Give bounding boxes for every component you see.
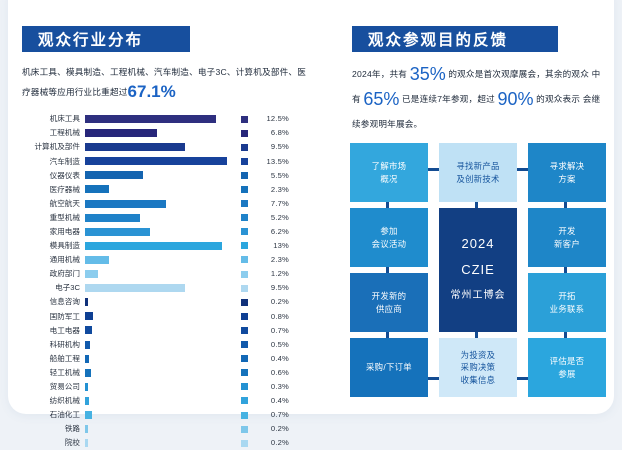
- purpose-cell-line: 寻找新产品: [456, 160, 499, 173]
- chart-row: 仪器仪表5.5%: [22, 168, 318, 182]
- purpose-cell-line: 开拓: [558, 290, 575, 303]
- intro-pct-revisit: 90%: [498, 89, 534, 109]
- chart-value-label: 5.2%: [255, 214, 289, 222]
- purpose-cell-line: 方案: [558, 173, 575, 186]
- chart-value-label: 12.5%: [255, 115, 289, 123]
- chart-row-label: 科研机构: [22, 341, 85, 349]
- chart-row-label: 贸易公司: [22, 383, 85, 391]
- chart-row-label: 家用电器: [22, 228, 85, 236]
- chart-row: 医疗器械2.3%: [22, 182, 318, 196]
- purpose-cell-line: 开发: [558, 225, 575, 238]
- intro-seg-5: 的观众表示: [536, 94, 580, 104]
- purpose-cell: 寻找新产品及创新技术: [439, 143, 517, 202]
- chart-row: 电子3C9.5%: [22, 281, 318, 295]
- center-year: 2024: [462, 231, 495, 257]
- purpose-cell: 评估是否参展: [528, 338, 606, 397]
- purpose-cell-line: 供应商: [376, 303, 402, 316]
- chart-value-label: 7.7%: [255, 200, 289, 208]
- chart-value-label: 1.2%: [255, 270, 289, 278]
- chart-row: 电工电器0.7%: [22, 323, 318, 337]
- legend-swatch: [241, 327, 248, 334]
- right-section-header: 观众参观目的反馈: [352, 26, 558, 52]
- chart-row-track: [85, 253, 227, 267]
- purpose-cell-line: 参展: [558, 368, 575, 381]
- chart-bar: [85, 341, 90, 349]
- purpose-cell-line: 收集信息: [461, 374, 496, 387]
- chart-row-track: [85, 422, 227, 436]
- legend-swatch: [241, 130, 248, 137]
- chart-row: 重型机械5.2%: [22, 211, 318, 225]
- chart-row-label: 信息咨询: [22, 298, 85, 306]
- purpose-cell-line: 为投资及: [461, 349, 496, 362]
- purpose-diagram: 了解市场概况寻找新产品及创新技术寻求解决方案参加会议活动开发新客户开发新的供应商…: [350, 143, 606, 398]
- right-intro-paragraph: 2024年，共有 35% 的观众是首次观摩展会，其余的观众 中有 65% 已是连…: [352, 62, 604, 137]
- connector-line: [386, 202, 389, 208]
- chart-row-track: [85, 225, 227, 239]
- chart-value-label: 9.5%: [255, 284, 289, 292]
- chart-bar: [85, 171, 143, 179]
- connector-line: [475, 202, 478, 208]
- legend-swatch: [241, 299, 248, 306]
- chart-row-track: [85, 295, 227, 309]
- legend-swatch: [241, 341, 248, 348]
- chart-value-label: 0.6%: [255, 369, 289, 377]
- chart-row: 政府部门1.2%: [22, 267, 318, 281]
- chart-value-label: 0.4%: [255, 355, 289, 363]
- chart-value-label: 0.5%: [255, 341, 289, 349]
- chart-row-track: [85, 239, 227, 253]
- legend-swatch: [241, 116, 248, 123]
- purpose-cell: 为投资及采购决策收集信息: [439, 338, 517, 397]
- chart-value-label: 0.3%: [255, 383, 289, 391]
- legend-swatch: [241, 200, 248, 207]
- chart-row: 铁路0.2%: [22, 422, 318, 436]
- legend-swatch: [241, 369, 248, 376]
- connector-line: [517, 168, 528, 171]
- chart-row-track: [85, 380, 227, 394]
- chart-value-label: 0.2%: [255, 425, 289, 433]
- legend-swatch: [241, 256, 248, 263]
- chart-row-track: [85, 182, 227, 196]
- legend-swatch: [241, 397, 248, 404]
- chart-row-label: 重型机械: [22, 214, 85, 222]
- chart-row-track: [85, 408, 227, 422]
- chart-bar: [85, 214, 140, 222]
- chart-value-label: 0.2%: [255, 298, 289, 306]
- chart-row: 家用电器6.2%: [22, 225, 318, 239]
- legend-swatch: [241, 214, 248, 221]
- intro-seg-1: 2024年，共有: [352, 69, 407, 79]
- chart-row-track: [85, 267, 227, 281]
- connector-line: [386, 332, 389, 338]
- legend-swatch: [241, 355, 248, 362]
- chart-row: 船舶工程0.4%: [22, 352, 318, 366]
- chart-row-label: 模具制造: [22, 242, 85, 250]
- purpose-cell-line: 开发新的: [372, 290, 407, 303]
- chart-bar: [85, 397, 89, 405]
- chart-row-label: 电工电器: [22, 327, 85, 335]
- chart-value-label: 2.3%: [255, 256, 289, 264]
- purpose-cell: 开拓业务联系: [528, 273, 606, 332]
- chart-row: 计算机及部件9.5%: [22, 140, 318, 154]
- chart-row-track: [85, 126, 227, 140]
- chart-value-label: 13%: [255, 242, 289, 250]
- legend-swatch: [241, 426, 248, 433]
- chart-value-label: 9.5%: [255, 143, 289, 151]
- chart-row: 纺织机械0.4%: [22, 394, 318, 408]
- legend-swatch: [241, 186, 248, 193]
- chart-bar: [85, 383, 88, 391]
- left-intro-highlight: 67.1%: [128, 82, 176, 101]
- chart-bar: [85, 439, 88, 447]
- chart-row: 通用机械2.3%: [22, 253, 318, 267]
- chart-row: 汽车制造13.5%: [22, 154, 318, 168]
- chart-row-label: 仪器仪表: [22, 172, 85, 180]
- intro-seg-4: 已是连续7年参观，超过: [402, 94, 495, 104]
- chart-row-label: 纺织机械: [22, 397, 85, 405]
- purpose-cell-line: 概况: [380, 173, 397, 186]
- purpose-cell: 开发新客户: [528, 208, 606, 267]
- chart-value-label: 0.7%: [255, 411, 289, 419]
- chart-row-label: 电子3C: [22, 284, 85, 292]
- chart-row: 工程机械6.8%: [22, 126, 318, 140]
- chart-row: 轻工机械0.6%: [22, 366, 318, 380]
- connector-line: [386, 267, 389, 273]
- chart-row-label: 政府部门: [22, 270, 85, 278]
- chart-row-track: [85, 168, 227, 182]
- center-name: 常州工博会: [451, 283, 506, 309]
- chart-value-label: 13.5%: [255, 158, 289, 166]
- purpose-cell-line: 寻求解决: [550, 160, 585, 173]
- panes: 观众行业分布 机床工具、模具制造、工程机械、汽车制造、电子3C、计算机及部件、医…: [0, 0, 622, 428]
- chart-row-label: 机床工具: [22, 115, 85, 123]
- chart-bar: [85, 256, 109, 264]
- chart-row-track: [85, 211, 227, 225]
- legend-swatch: [241, 242, 248, 249]
- center-abbr: CZIE: [461, 257, 495, 283]
- center-logo-cell: 2024CZIE常州工博会: [439, 208, 517, 332]
- chart-row-label: 通用机械: [22, 256, 85, 264]
- connector-line: [475, 332, 478, 338]
- chart-row: 模具制造13%: [22, 239, 318, 253]
- chart-row-track: [85, 309, 227, 323]
- connector-line: [564, 332, 567, 338]
- page-root: 观众行业分布 机床工具、模具制造、工程机械、汽车制造、电子3C、计算机及部件、医…: [0, 0, 622, 428]
- purpose-cell: 采购/下订单: [350, 338, 428, 397]
- purpose-cell: 参加会议活动: [350, 208, 428, 267]
- chart-row: 航空航天7.7%: [22, 197, 318, 211]
- chart-bar: [85, 157, 227, 165]
- chart-row-label: 计算机及部件: [22, 143, 85, 151]
- chart-bar: [85, 326, 92, 334]
- chart-value-label: 6.8%: [255, 129, 289, 137]
- chart-bar: [85, 369, 91, 377]
- chart-row-track: [85, 197, 227, 211]
- chart-bar: [85, 270, 98, 278]
- chart-row-label: 国防军工: [22, 313, 85, 321]
- chart-row-label: 航空航天: [22, 200, 85, 208]
- chart-row-track: [85, 436, 227, 450]
- legend-swatch: [241, 412, 248, 419]
- chart-row-label: 铁路: [22, 425, 85, 433]
- connector-line: [564, 267, 567, 273]
- industry-bar-chart: 机床工具12.5%工程机械6.8%计算机及部件9.5%汽车制造13.5%仪器仪表…: [22, 112, 318, 408]
- purpose-cell-line: 新客户: [554, 238, 580, 251]
- legend-swatch: [241, 285, 248, 292]
- chart-row: 院校0.2%: [22, 436, 318, 450]
- chart-bar: [85, 284, 185, 292]
- chart-row: 信息咨询0.2%: [22, 295, 318, 309]
- chart-bar: [85, 411, 92, 419]
- legend-swatch: [241, 383, 248, 390]
- purpose-cell-line: 采购/下订单: [366, 361, 412, 374]
- chart-row-label: 轻工机械: [22, 369, 85, 377]
- chart-row-track: [85, 112, 227, 126]
- connector-line: [428, 377, 439, 380]
- chart-row-track: [85, 154, 227, 168]
- chart-value-label: 6.2%: [255, 228, 289, 236]
- connector-line: [517, 377, 528, 380]
- chart-bar: [85, 298, 88, 306]
- purpose-cell: 了解市场概况: [350, 143, 428, 202]
- chart-value-label: 0.7%: [255, 327, 289, 335]
- left-intro-paragraph: 机床工具、模具制造、工程机械、汽车制造、电子3C、计算机及部件、医疗器械等应用行…: [22, 62, 312, 102]
- chart-row-track: [85, 140, 227, 154]
- connector-line: [564, 202, 567, 208]
- purpose-cell-line: 及创新技术: [456, 173, 499, 186]
- chart-bar: [85, 129, 157, 137]
- purpose-cell: 寻求解决方案: [528, 143, 606, 202]
- purpose-cell-line: 采购决策: [461, 361, 496, 374]
- chart-bar: [85, 228, 150, 236]
- left-section-header: 观众行业分布: [22, 26, 190, 52]
- chart-row: 石油化工0.7%: [22, 408, 318, 422]
- chart-row-label: 院校: [22, 439, 85, 447]
- chart-row-label: 石油化工: [22, 411, 85, 419]
- chart-row-track: [85, 338, 227, 352]
- legend-swatch: [241, 144, 248, 151]
- purpose-cell-line: 评估是否: [550, 355, 585, 368]
- legend-swatch: [241, 228, 248, 235]
- legend-swatch: [241, 313, 248, 320]
- chart-row-label: 船舶工程: [22, 355, 85, 363]
- chart-value-label: 5.5%: [255, 172, 289, 180]
- chart-row: 机床工具12.5%: [22, 112, 318, 126]
- chart-row: 国防军工0.8%: [22, 309, 318, 323]
- chart-bar: [85, 115, 216, 123]
- chart-bar: [85, 425, 88, 433]
- chart-value-label: 2.3%: [255, 186, 289, 194]
- purpose-cell-line: 参加: [380, 225, 397, 238]
- chart-row-track: [85, 352, 227, 366]
- purpose-cell: 开发新的供应商: [350, 273, 428, 332]
- chart-row: 贸易公司0.3%: [22, 380, 318, 394]
- legend-swatch: [241, 440, 248, 447]
- right-panel: 观众参观目的反馈 2024年，共有 35% 的观众是首次观摩展会，其余的观众 中…: [330, 0, 622, 428]
- purpose-cell-line: 了解市场: [372, 160, 407, 173]
- legend-swatch: [241, 172, 248, 179]
- chart-bar: [85, 185, 109, 193]
- chart-row-label: 汽车制造: [22, 158, 85, 166]
- chart-bar: [85, 143, 185, 151]
- intro-pct-returning: 65%: [363, 89, 399, 109]
- chart-row-label: 医疗器械: [22, 186, 85, 194]
- chart-value-label: 0.2%: [255, 439, 289, 447]
- chart-bar: [85, 355, 89, 363]
- chart-value-label: 0.4%: [255, 397, 289, 405]
- connector-line: [428, 168, 439, 171]
- chart-row: 科研机构0.5%: [22, 338, 318, 352]
- chart-row-track: [85, 281, 227, 295]
- purpose-cell-line: 业务联系: [550, 303, 585, 316]
- chart-row-track: [85, 394, 227, 408]
- purpose-cell-line: 会议活动: [372, 238, 407, 251]
- left-panel: 观众行业分布 机床工具、模具制造、工程机械、汽车制造、电子3C、计算机及部件、医…: [0, 0, 330, 428]
- chart-bar: [85, 200, 166, 208]
- chart-value-label: 0.8%: [255, 313, 289, 321]
- chart-row-track: [85, 323, 227, 337]
- intro-pct-first-time: 35%: [410, 64, 446, 84]
- chart-bar: [85, 242, 222, 250]
- chart-row-label: 工程机械: [22, 129, 85, 137]
- legend-swatch: [241, 271, 248, 278]
- legend-swatch: [241, 158, 248, 165]
- chart-bar: [85, 312, 93, 320]
- intro-seg-2: 的观众是首次观摩展会，其余的观众: [448, 69, 589, 79]
- chart-row-track: [85, 366, 227, 380]
